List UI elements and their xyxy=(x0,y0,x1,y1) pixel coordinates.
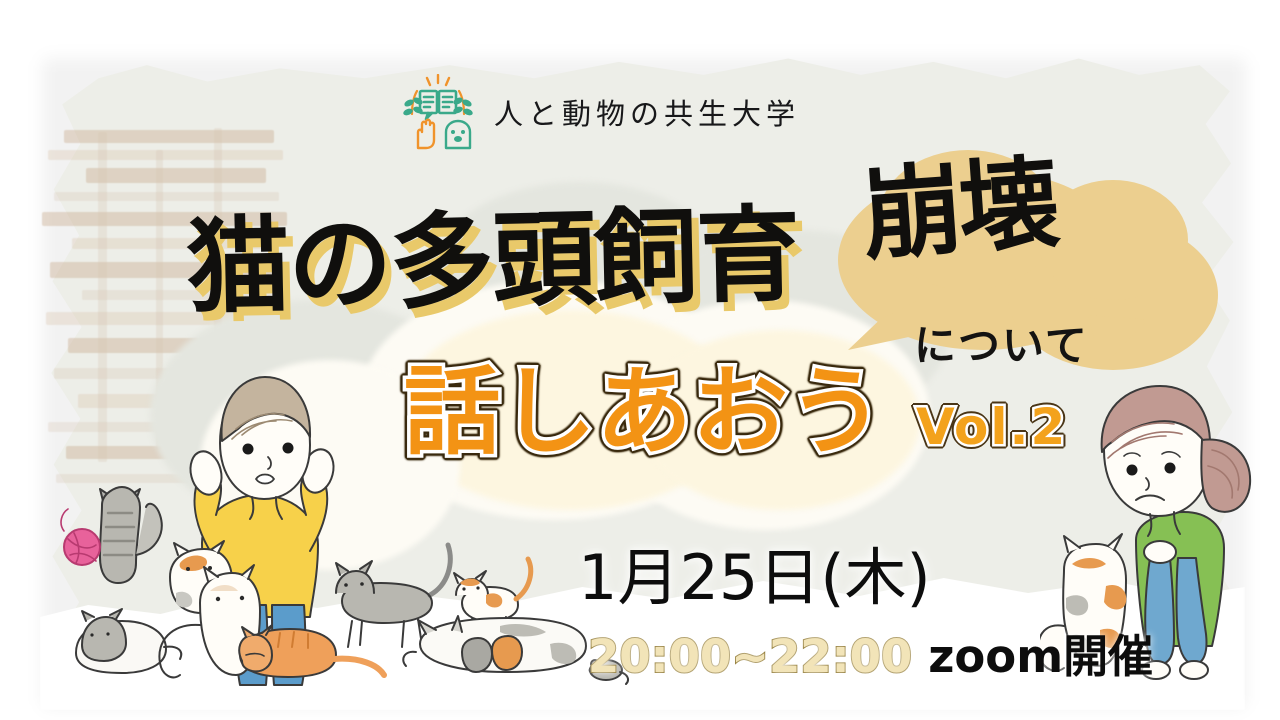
brand-header: 人と動物の共生大学 xyxy=(396,74,800,150)
event-date: 1月25日(木) xyxy=(578,527,931,617)
grey-tabby-sitting-cat xyxy=(100,487,162,583)
event-platform: zoom開催 xyxy=(928,620,1153,685)
organization-name: 人と動物の共生大学 xyxy=(494,91,800,133)
event-time-range: 20:00~22:00 xyxy=(588,630,912,683)
pink-yarn-ball xyxy=(61,509,100,565)
poster-canvas: 人と動物の共生大学 猫の多頭飼育 崩壊 について 話しあおう Vol.2 xyxy=(0,0,1280,720)
orange-sleeping-cat xyxy=(239,625,384,677)
title-bubble-subtext: について xyxy=(914,312,1089,373)
title-bubble-word: 崩壊 xyxy=(857,121,1059,279)
title-line-1: 猫の多頭飼育 xyxy=(184,170,799,334)
grey-cat-curled xyxy=(76,609,181,673)
volume-label: Vol.2 xyxy=(916,398,1067,456)
university-logo-icon xyxy=(396,74,480,150)
title-line-2: 話しあおう xyxy=(404,334,884,473)
event-time-row: 20:00~22:00 zoom開催 xyxy=(588,620,1153,685)
